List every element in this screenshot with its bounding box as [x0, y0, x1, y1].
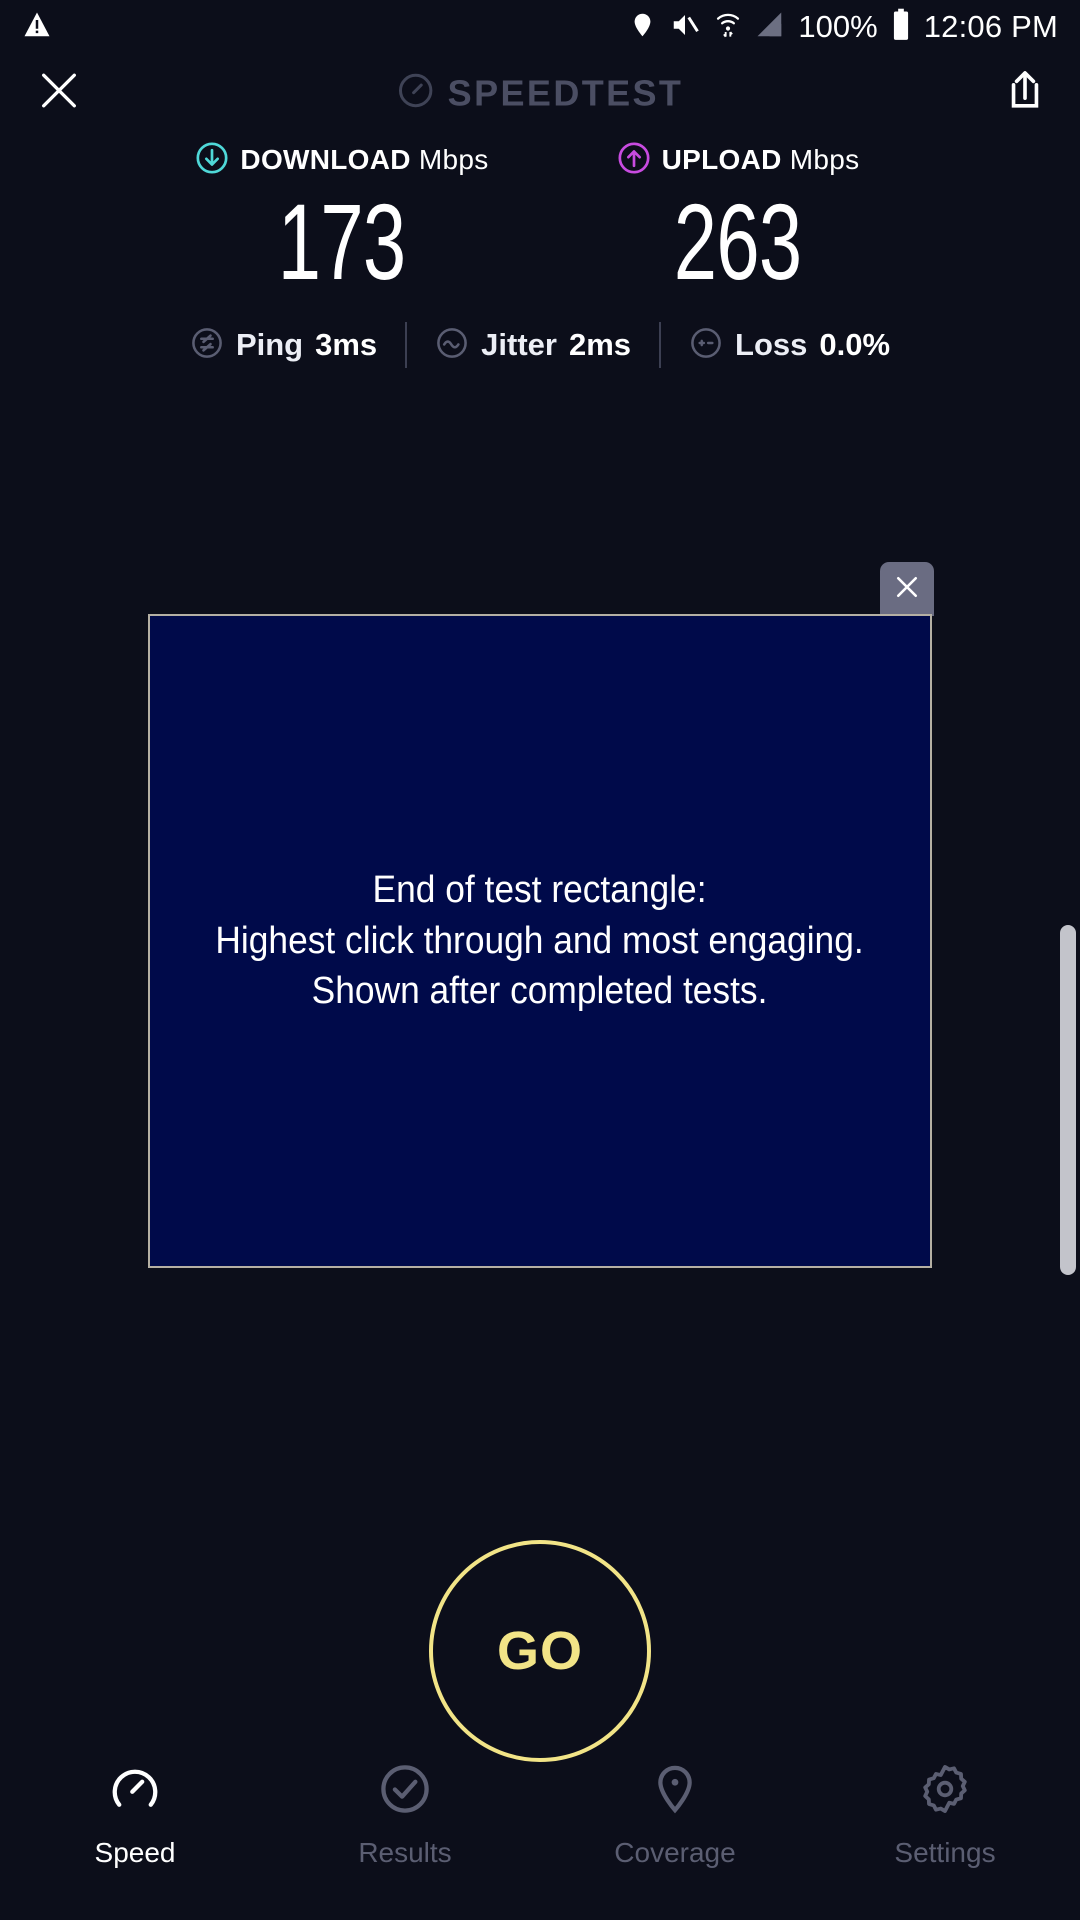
go-button[interactable]: GO: [429, 1540, 651, 1762]
wifi-icon: [714, 9, 742, 46]
nav-label-coverage: Coverage: [614, 1837, 735, 1869]
ping-stat: Ping 3ms: [162, 326, 405, 365]
speedometer-icon: [108, 1762, 162, 1821]
upload-label: UPLOAD Mbps: [662, 144, 860, 176]
share-icon: [1004, 101, 1046, 118]
app-title-group: SPEEDTEST: [397, 72, 684, 115]
download-header: DOWNLOAD Mbps: [195, 140, 488, 180]
ping-label: Ping: [236, 327, 303, 363]
nav-label-results: Results: [358, 1837, 451, 1869]
app-header: SPEEDTEST: [0, 54, 1080, 132]
close-icon: [892, 572, 922, 607]
map-pin-icon: [648, 1762, 702, 1821]
jitter-icon: [435, 326, 469, 365]
go-button-label: GO: [497, 1620, 583, 1682]
speedtest-app-screen: 100% 12:06 PM: [0, 0, 1080, 1920]
cellular-signal-icon: [755, 10, 785, 45]
nav-item-settings[interactable]: Settings: [810, 1762, 1080, 1869]
ad-close-button[interactable]: [880, 562, 934, 616]
ad-line-3: Shown after completed tests.: [216, 966, 864, 1017]
loss-icon: [689, 326, 723, 365]
ping-icon: [190, 326, 224, 365]
upload-value: 263: [674, 188, 802, 296]
jitter-stat: Jitter 2ms: [407, 326, 659, 365]
loss-value: 0.0%: [819, 327, 890, 363]
nav-item-speed[interactable]: Speed: [0, 1762, 270, 1869]
gear-icon: [918, 1762, 972, 1821]
advertisement-banner[interactable]: End of test rectangle: Highest click thr…: [148, 614, 932, 1268]
jitter-value: 2ms: [569, 327, 631, 363]
ping-value: 3ms: [315, 327, 377, 363]
download-value: 173: [278, 188, 406, 296]
ad-text: End of test rectangle: Highest click thr…: [216, 865, 864, 1017]
nav-item-results[interactable]: Results: [270, 1762, 540, 1869]
loss-label: Loss: [735, 327, 807, 363]
close-icon: [36, 101, 82, 118]
upload-metric: UPLOAD Mbps 263: [588, 140, 888, 296]
nav-item-coverage[interactable]: Coverage: [540, 1762, 810, 1869]
ad-line-1: End of test rectangle:: [216, 865, 864, 916]
connection-stats-row: Ping 3ms Jitter 2ms: [0, 322, 1080, 368]
page-scrollbar[interactable]: [1060, 925, 1076, 1275]
battery-percent-label: 100%: [798, 9, 877, 45]
circle-arrow-up-icon: [617, 141, 651, 180]
jitter-label: Jitter: [481, 327, 557, 363]
check-circle-icon: [378, 1762, 432, 1821]
battery-full-icon: [891, 8, 911, 47]
download-label: DOWNLOAD Mbps: [240, 144, 488, 176]
loss-stat: Loss 0.0%: [661, 326, 918, 365]
speed-values-row: DOWNLOAD Mbps 173 UPLOAD Mbps: [0, 140, 1080, 296]
warning-triangle-icon: [22, 10, 52, 45]
location-icon: [629, 10, 656, 45]
nav-label-speed: Speed: [95, 1837, 176, 1869]
status-bar: 100% 12:06 PM: [0, 0, 1080, 54]
bottom-navigation-bar: Speed Results Coverage: [0, 1740, 1080, 1920]
ad-line-2: Highest click through and most engaging.: [216, 916, 864, 967]
status-bar-left: [22, 10, 52, 45]
results-panel: DOWNLOAD Mbps 173 UPLOAD Mbps: [0, 140, 1080, 368]
download-metric: DOWNLOAD Mbps 173: [192, 140, 492, 296]
circle-arrow-down-icon: [195, 141, 229, 180]
status-bar-right: 100% 12:06 PM: [629, 8, 1058, 47]
mute-icon: [669, 10, 701, 45]
page-title: SPEEDTEST: [448, 72, 684, 114]
share-button[interactable]: [1004, 68, 1046, 119]
nav-label-settings: Settings: [894, 1837, 995, 1869]
close-button[interactable]: [36, 68, 82, 119]
speedometer-icon: [397, 72, 435, 115]
status-bar-clock: 12:06 PM: [924, 9, 1058, 45]
upload-header: UPLOAD Mbps: [617, 140, 860, 180]
